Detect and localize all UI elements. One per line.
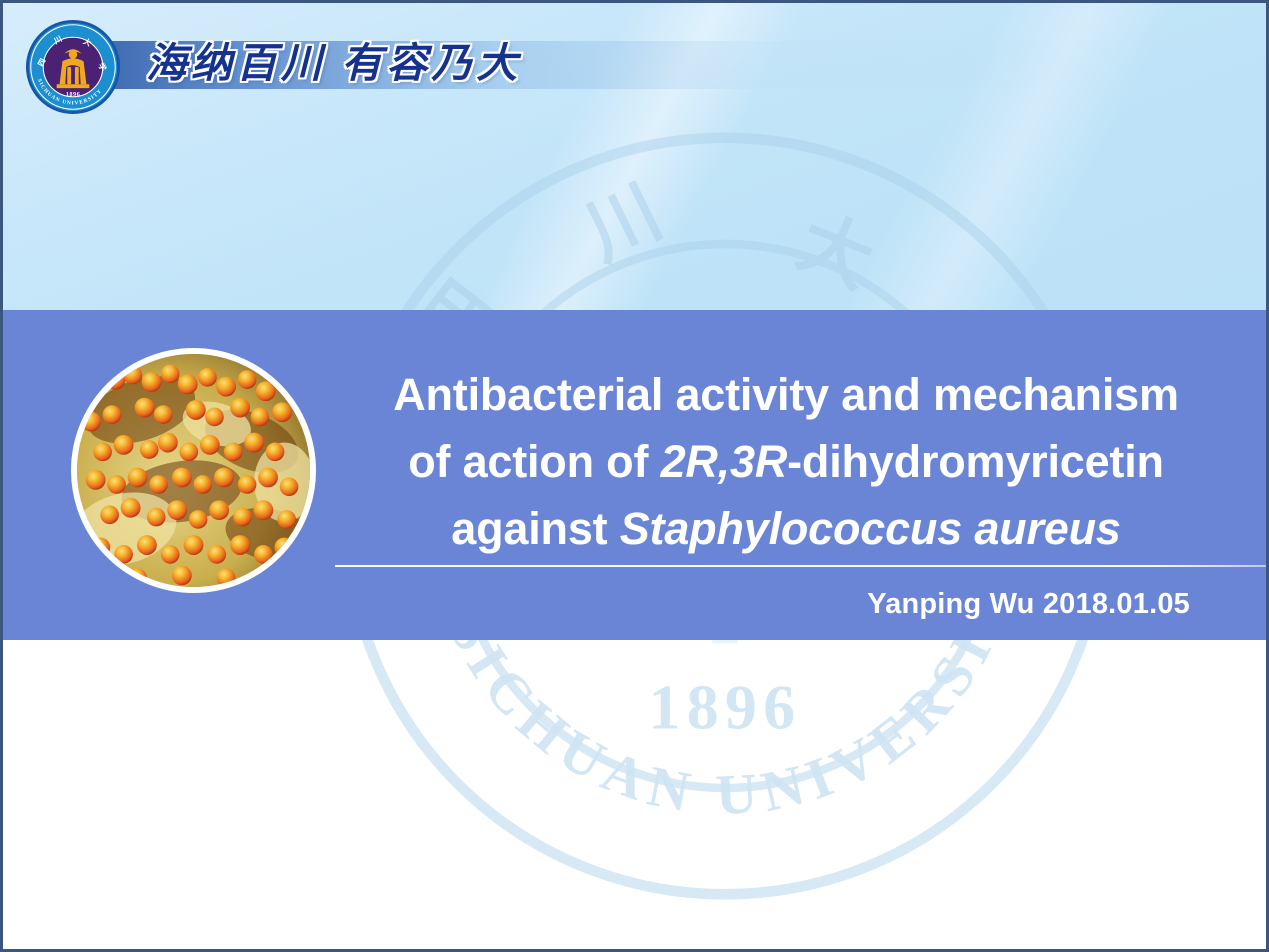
title-line-2: of action of 2R,3R-dihydromyricetin [335, 428, 1237, 495]
slide-title: Antibacterial activity and mechanism of … [335, 361, 1237, 562]
title-line-3-prefix: against [451, 503, 619, 554]
staphylococcus-aureus-micrograph [71, 348, 316, 593]
svg-text:1896: 1896 [66, 91, 80, 98]
title-line-2-prefix: of action of [408, 436, 660, 487]
title-line-2-suffix: -dihydromyricetin [787, 436, 1164, 487]
title-line-2-stereodescriptor: 2R,3R [661, 436, 788, 487]
title-line-1: Antibacterial activity and mechanism [335, 361, 1237, 428]
title-line-3-species-name: Staphylococcus aureus [620, 503, 1121, 554]
presentation-slide: 四 川 大 学 1896 SICHUAN UNIVERSITY [0, 0, 1269, 952]
title-line-3: against Staphylococcus aureus [335, 495, 1237, 562]
author-and-date-byline: Yanping Wu 2018.01.05 [335, 588, 1190, 621]
title-divider-rule [335, 565, 1269, 567]
sichuan-university-logo: 1896 四 川 大 学 SICHUAN UNIVERSITY [25, 19, 121, 115]
university-motto: 海纳百川 有容乃大 [146, 30, 521, 88]
slide-body-background [3, 640, 1269, 952]
